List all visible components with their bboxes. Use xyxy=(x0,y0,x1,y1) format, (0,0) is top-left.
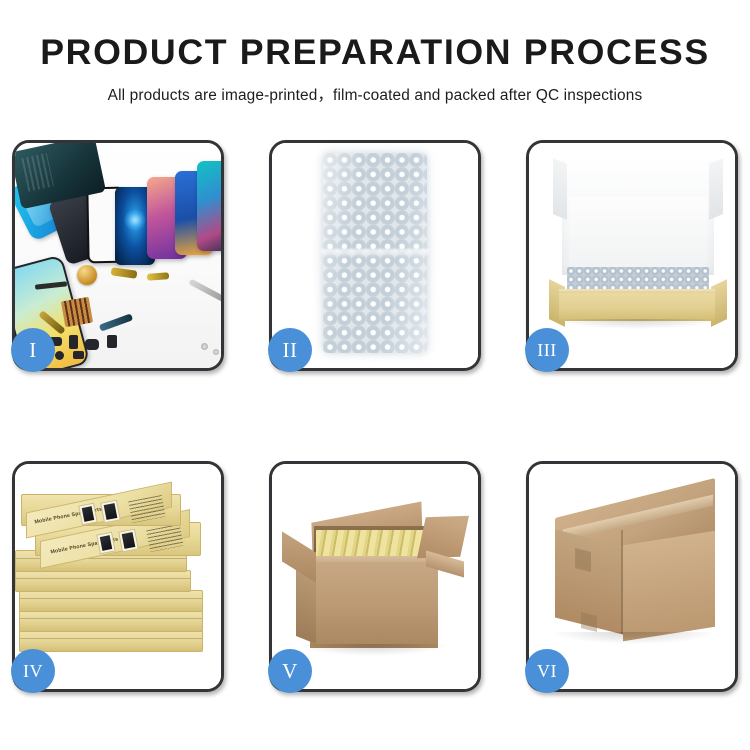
page-subtitle: All products are image-printed，film-coat… xyxy=(0,83,750,105)
foam-sheet-icon xyxy=(569,197,707,271)
process-step-panel-4: Mobile Phone Spare Parts Mobile Phone Sp… xyxy=(12,461,224,692)
page-title: PRODUCT PREPARATION PROCESS xyxy=(0,34,750,73)
chip-grid-icon xyxy=(61,297,93,327)
process-step-panel-1: I xyxy=(12,140,224,371)
step-badge-3: III xyxy=(525,328,569,372)
process-step-panel-6: VI xyxy=(526,461,738,692)
box-slab xyxy=(15,570,191,592)
flex-cable-icon xyxy=(147,272,169,281)
small-part-icon xyxy=(73,351,84,359)
flex-cable-icon xyxy=(99,313,133,331)
carton-tab xyxy=(581,612,597,632)
retail-box: Mobile Phone Spare Parts xyxy=(21,494,181,526)
screw-icon xyxy=(201,343,208,350)
step-badge-6: VI xyxy=(525,649,569,693)
process-step-panel-5: V xyxy=(269,461,481,692)
flex-cable-icon xyxy=(111,267,138,279)
step-badge-5: V xyxy=(268,649,312,693)
box-slab xyxy=(19,610,203,632)
box-front-panel xyxy=(559,293,715,321)
step-badge-4: IV xyxy=(11,649,55,693)
carton-right-flap xyxy=(417,516,469,559)
box-slab xyxy=(19,590,203,612)
screw-icon xyxy=(213,349,219,355)
carton-corner-seam xyxy=(621,530,623,634)
carton-right-face xyxy=(623,531,715,642)
small-part-icon xyxy=(107,335,117,348)
small-part-icon xyxy=(55,351,64,360)
step-badge-2: II xyxy=(268,328,312,372)
process-step-panel-3: III xyxy=(526,140,738,371)
carton-front-panel xyxy=(310,562,438,648)
small-part-icon xyxy=(85,339,99,350)
box-shadow xyxy=(555,319,719,329)
box-lid-left-flap xyxy=(553,158,567,220)
box-lid-right-flap xyxy=(709,158,723,220)
process-step-grid: I II xyxy=(12,140,738,692)
teal-swirl-phone-icon xyxy=(197,161,221,251)
speaker-coin-icon xyxy=(77,265,97,285)
step-badge-1: I xyxy=(11,328,55,372)
carton-shadow xyxy=(553,632,715,644)
process-step-panel-2: II xyxy=(269,140,481,371)
product-preparation-page: PRODUCT PREPARATION PROCESS All products… xyxy=(0,0,750,750)
tweezers-icon xyxy=(188,279,221,306)
header: PRODUCT PREPARATION PROCESS All products… xyxy=(0,0,750,105)
box-slab xyxy=(19,630,203,652)
carton-tab xyxy=(575,548,591,572)
carton-shadow xyxy=(298,644,448,656)
bubble-wrap-sheet-icon xyxy=(323,153,427,353)
small-part-icon xyxy=(69,335,78,349)
